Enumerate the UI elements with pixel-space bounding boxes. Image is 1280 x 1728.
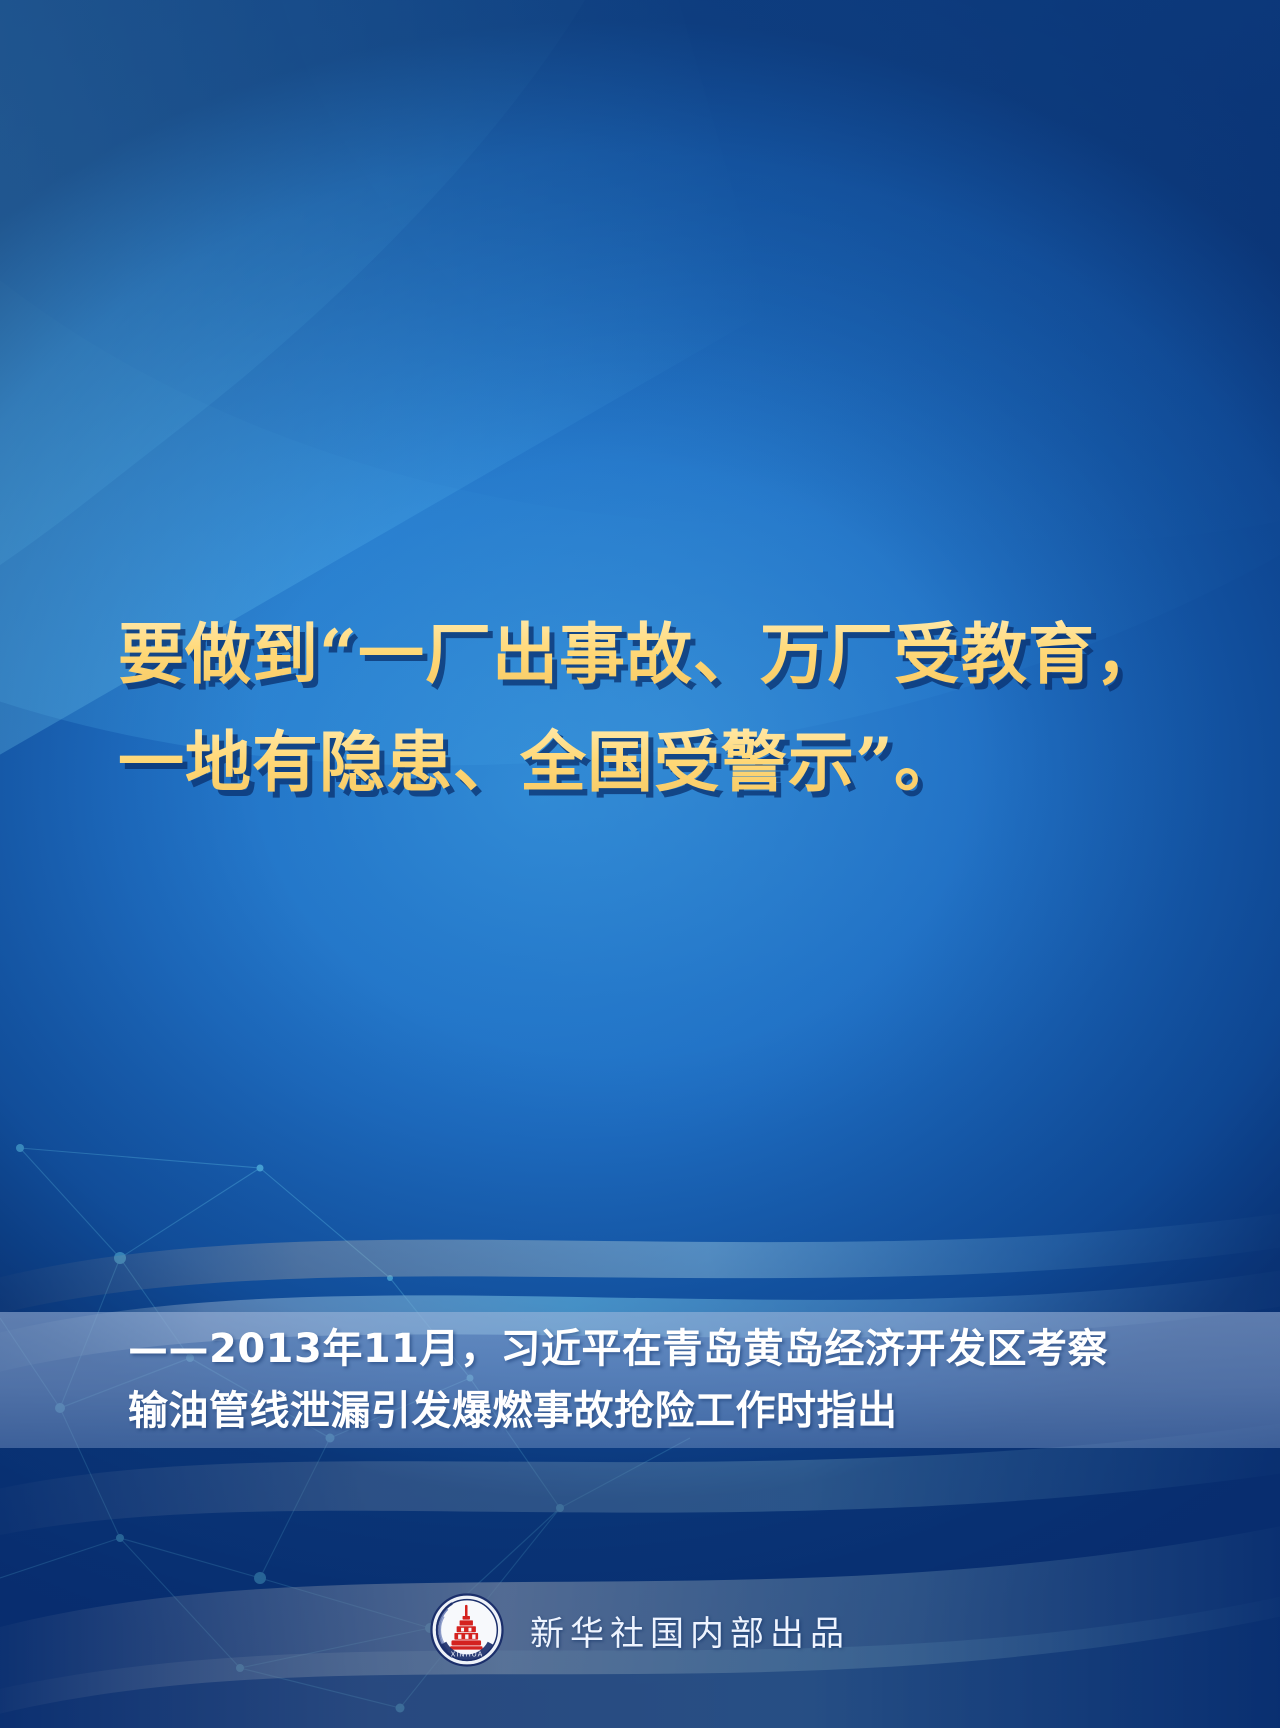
background-swoosh-dark [0,0,1280,616]
background-swoosh-mid [212,0,1280,583]
attribution: ——2013年11月，习近平在青岛黄岛经济开发区考察 输油管线泄漏引发爆燃事故抢… [128,1318,1188,1442]
quote-poster: 要做到“一厂出事故、万厂受教育， 一地有隐患、全国受警示”。 ——2013年11… [0,0,1280,1728]
xinhua-logo-icon: XINHUA [430,1593,504,1667]
quote-line-2: 一地有隐患、全国受警示”。 [118,708,1118,816]
footer-label: 新华社国内部出品 [530,1606,850,1655]
logo-wordmark: XINHUA [451,1650,484,1659]
main-quote: 要做到“一厂出事故、万厂受教育， 一地有隐患、全国受警示”。 [118,600,1118,816]
footer: XINHUA 新华社国内部出品 [0,1580,1280,1680]
attribution-line-2: 输油管线泄漏引发爆燃事故抢险工作时指出 [128,1380,1188,1442]
background-vignette [0,0,1280,1728]
quote-line-1: 要做到“一厂出事故、万厂受教育， [118,600,1118,708]
attribution-line-1: ——2013年11月，习近平在青岛黄岛经济开发区考察 [128,1318,1188,1380]
